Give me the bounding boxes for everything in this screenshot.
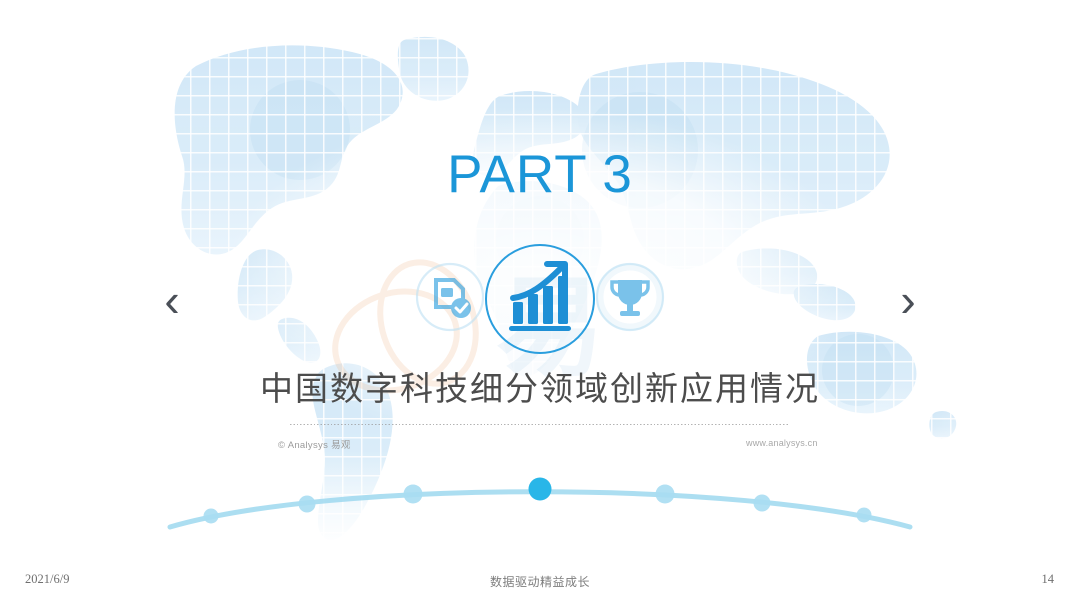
progress-dot[interactable] (299, 496, 316, 513)
fade-mask-top (0, 0, 1080, 40)
footer-page-number: 14 (1042, 572, 1055, 587)
footer-slogan: 数据驱动精益成长 (0, 573, 1080, 590)
chevron-right-icon[interactable]: › (880, 270, 936, 330)
arc-dot-group (204, 478, 872, 524)
page-title: 中国数字科技细分领域创新应用情况 (0, 369, 1080, 409)
progress-dot[interactable] (857, 508, 872, 523)
progress-arc[interactable] (0, 455, 1080, 555)
part-label: PART 3 (0, 148, 1080, 201)
icon-cluster (405, 240, 675, 358)
website-url[interactable]: www.analysys.cn (746, 438, 818, 448)
document-check-icon (411, 258, 489, 336)
footer: 2021/6/9 数据驱动精益成长 14 (0, 572, 1080, 598)
bar-chart-growth-icon (481, 240, 599, 358)
trophy-icon (591, 258, 669, 336)
progress-dot[interactable] (754, 495, 771, 512)
slide-canvas: 易 PART 3 (0, 0, 1080, 608)
progress-dot[interactable] (404, 485, 423, 504)
progress-dot[interactable] (204, 509, 219, 524)
copyright-credit: © Analysys 易观 (278, 437, 351, 451)
progress-dot[interactable] (656, 485, 675, 504)
progress-dot[interactable] (529, 478, 552, 501)
title-divider (290, 424, 790, 425)
chevron-left-icon[interactable]: ‹ (144, 270, 200, 330)
